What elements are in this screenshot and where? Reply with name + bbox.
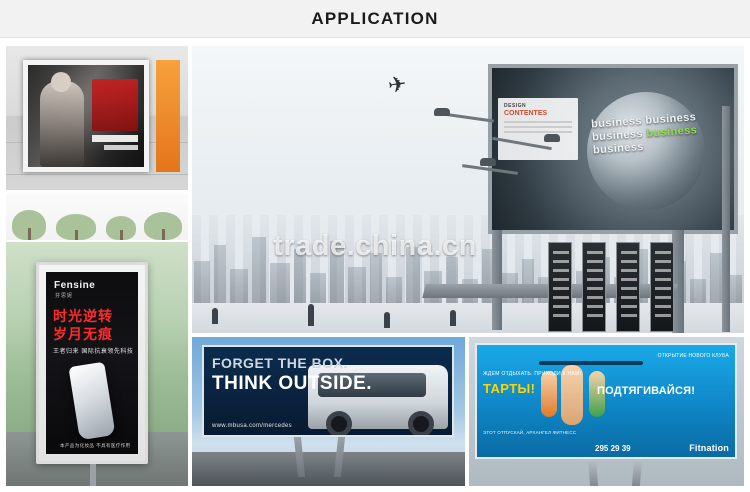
gallery-item-street-greenery[interactable] <box>6 194 188 240</box>
tree-trunk <box>75 230 78 240</box>
billboard-brand: Fitnation <box>689 443 729 453</box>
product-bottle-image <box>68 362 115 441</box>
ad-headline-line2: 岁月无痕 <box>53 324 113 344</box>
airplane-icon: ✈ <box>386 71 408 99</box>
kiosk-ad-panel: Fensine 芬思妮 时光逆转 岁月无痕 王者归来 国际抗衰领先科技 本产品为… <box>46 272 138 454</box>
lightbox-kiosk: Fensine 芬思妮 时光逆转 岁月无痕 王者归来 国际抗衰领先科技 本产品为… <box>36 262 148 464</box>
vertical-banner <box>650 242 674 332</box>
page-title: APPLICATION <box>311 9 438 29</box>
brand-logo: Fensine <box>54 280 95 291</box>
athlete-figure-child <box>541 371 557 417</box>
poster-red-text-block <box>92 79 138 131</box>
billboard-line1: FORGET THE BOX. <box>212 355 348 371</box>
image-gallery: ✈ ✈ business business business business … <box>6 46 744 486</box>
brand-logo-subtitle: 芬思妮 <box>55 292 73 299</box>
billboard-card-subtitle: CONTENTES <box>498 109 578 118</box>
gallery-item-indoor-lightbox[interactable] <box>6 46 188 190</box>
tree-trunk <box>120 230 123 240</box>
gallery-item-bus-shelter-lightbox[interactable]: Fensine 芬思妮 时光逆转 岁月无痕 王者归来 国际抗衰领先科技 本产品为… <box>6 242 188 486</box>
billboard-support-legs <box>589 459 649 486</box>
billboard-face: ОТКРЫТИЕ НОВОГО КЛУБА ЖДЕМ ОТДЫХАТЬ. ПРИ… <box>475 343 737 459</box>
billboard-card-rule <box>504 126 572 128</box>
tree-trunk <box>28 228 31 240</box>
billboard-footer-url: www.mbusa.com/mercedes <box>212 423 292 429</box>
page-header: APPLICATION <box>0 0 750 38</box>
billboard-word-green: business <box>646 124 698 140</box>
gallery-item-fitnation-billboard[interactable]: ОТКРЫТИЕ НОВОГО КЛУБА ЖДЕМ ОТДЫХАТЬ. ПРИ… <box>469 337 744 486</box>
lightbox-frame <box>23 60 149 172</box>
application-gallery-page: APPLICATION <box>0 0 750 492</box>
billboard-support-post <box>492 230 502 330</box>
tree-trunk <box>162 229 165 240</box>
poster-white-bar <box>92 135 138 142</box>
wall-seam <box>6 174 188 175</box>
poster-white-bar-secondary <box>104 145 138 150</box>
support-leg <box>294 437 305 477</box>
pullup-bar-graphic <box>539 361 643 365</box>
pedestrian-figure <box>212 308 218 324</box>
billboard-support-legs <box>296 437 360 477</box>
pedestrian-figure <box>308 304 314 326</box>
pedestrian-figure <box>384 312 390 328</box>
footer-spacer <box>0 486 750 492</box>
billboard-kicker: ЖДЕМ ОТДЫХАТЬ. ПРИХОДИ К НАМ! <box>483 371 581 377</box>
gallery-item-mercedes-billboard[interactable]: FORGET THE BOX. THINK OUTSIDE. www.mbusa… <box>192 337 465 486</box>
billboard-word-4: business <box>593 141 645 157</box>
billboard-line2: THINK OUTSIDE. <box>212 373 372 395</box>
support-leg <box>632 459 642 486</box>
orange-side-panel <box>156 60 180 172</box>
poster-model-figure <box>40 81 84 167</box>
billboard-card-rule <box>504 121 572 123</box>
billboard-footnote: ЭТОТ ОТПУСКАЙ, АРХАНГЕЛ ФИТНЕСС <box>483 430 576 435</box>
ad-headline-line1: 时光逆转 <box>53 306 113 326</box>
billboard-support-post <box>722 106 730 332</box>
pedestrian-figure <box>450 310 456 326</box>
kiosk-support-pole <box>90 464 96 486</box>
vertical-banner <box>548 242 572 332</box>
billboard-face: business business business business busi… <box>488 64 738 234</box>
billboard-phone-number: 295 29 39 <box>595 444 631 453</box>
car-wheel <box>408 411 434 437</box>
ad-subline: 王者归来 国际抗衰领先科技 <box>53 346 133 355</box>
lamp-head-icon <box>434 108 450 116</box>
billboard-face: FORGET THE BOX. THINK OUTSIDE. www.mbusa… <box>202 345 454 437</box>
car-wheel <box>326 411 352 437</box>
billboard-headline-yellow: ТАРТЫ! <box>483 381 535 396</box>
lamp-head-icon <box>544 134 560 142</box>
billboard-headline-white: ПОДТЯГИВАЙСЯ! <box>597 385 695 397</box>
billboard-corner-note: ОТКРЫТИЕ НОВОГО КЛУБА <box>658 353 729 359</box>
ad-footnote: 本产品为化妆品 不具有医疗作用 <box>60 443 130 449</box>
vertical-banner <box>582 242 606 332</box>
lamp-head-icon <box>480 158 496 166</box>
billboard-card-rule <box>504 131 572 133</box>
support-leg <box>334 437 345 477</box>
gallery-item-outdoor-billboard[interactable]: ✈ ✈ business business business business … <box>192 46 744 333</box>
billboard-card-title: DESIGN <box>498 98 578 109</box>
billboard-side-card: DESIGN CONTENTES <box>498 98 578 160</box>
vertical-banner <box>616 242 640 332</box>
support-leg <box>588 459 598 486</box>
